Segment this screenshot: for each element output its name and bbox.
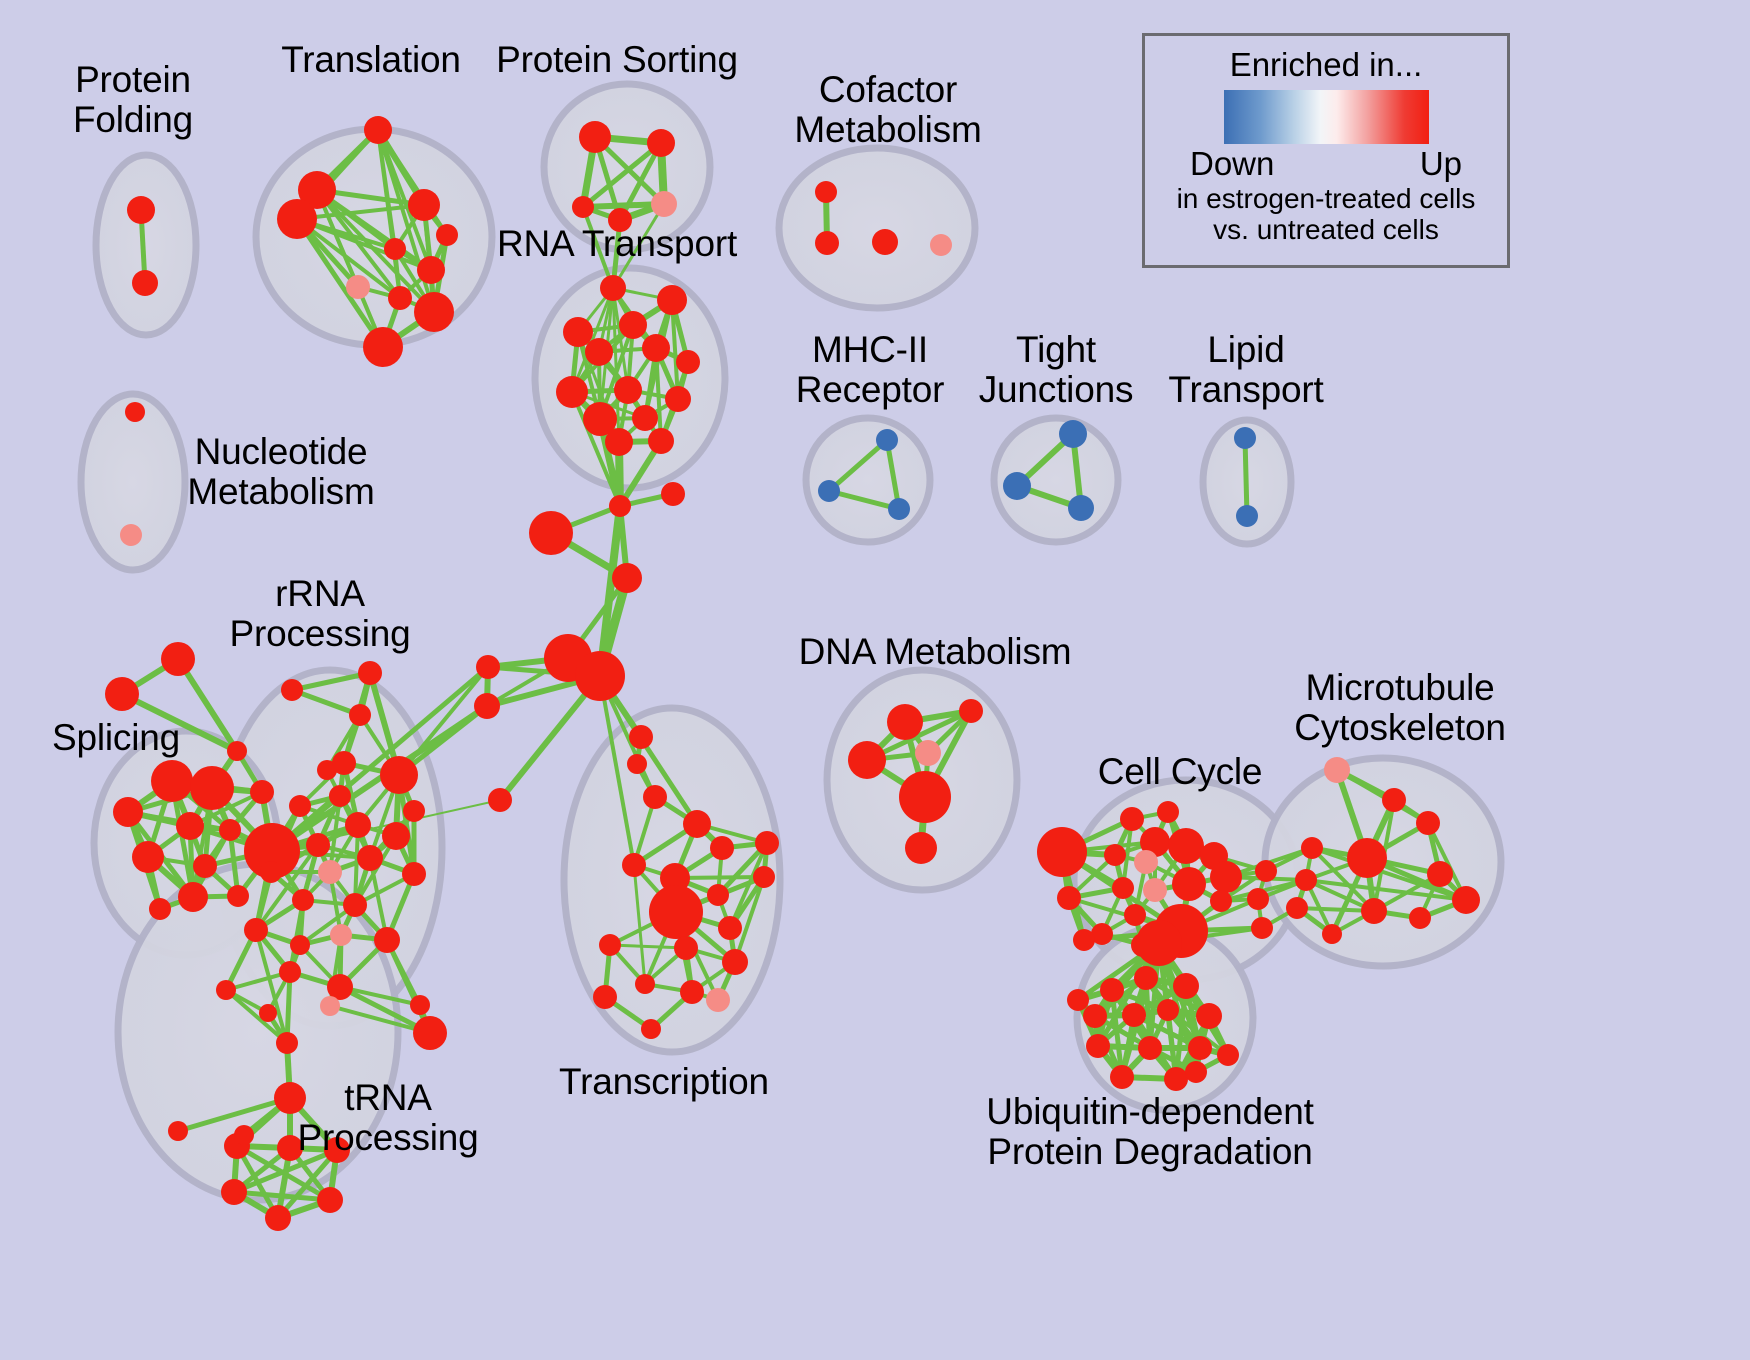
network-node[interactable]	[260, 861, 282, 883]
network-node[interactable]	[661, 482, 685, 506]
network-node[interactable]	[529, 511, 573, 555]
network-node[interactable]	[930, 234, 952, 256]
network-node[interactable]	[612, 563, 642, 593]
network-node[interactable]	[683, 810, 711, 838]
network-edge	[1245, 438, 1247, 516]
network-node[interactable]	[276, 1032, 298, 1054]
network-node[interactable]	[649, 885, 703, 939]
network-node[interactable]	[1210, 890, 1232, 912]
network-node[interactable]	[1361, 898, 1387, 924]
network-node[interactable]	[125, 402, 145, 422]
network-node[interactable]	[1086, 1034, 1110, 1058]
network-node[interactable]	[318, 860, 342, 884]
network-node[interactable]	[1138, 1036, 1162, 1060]
cluster-label-protein-sorting: Protein Sorting	[496, 40, 738, 80]
network-node[interactable]	[349, 704, 371, 726]
network-node[interactable]	[1301, 837, 1323, 859]
network-node[interactable]	[329, 785, 351, 807]
network-node[interactable]	[647, 129, 675, 157]
network-node[interactable]	[1196, 1003, 1222, 1029]
network-node[interactable]	[1188, 1036, 1212, 1060]
network-node[interactable]	[290, 935, 310, 955]
network-node[interactable]	[1210, 861, 1242, 893]
network-node[interactable]	[1059, 420, 1087, 448]
network-node[interactable]	[403, 800, 425, 822]
network-node[interactable]	[600, 275, 626, 301]
network-node[interactable]	[572, 196, 594, 218]
network-node[interactable]	[259, 1004, 277, 1022]
network-node[interactable]	[221, 1179, 247, 1205]
network-node[interactable]	[815, 231, 839, 255]
network-node[interactable]	[227, 741, 247, 761]
network-node[interactable]	[380, 756, 418, 794]
network-node[interactable]	[718, 916, 742, 940]
network-node[interactable]	[193, 854, 217, 878]
network-node[interactable]	[887, 704, 923, 740]
cluster-label-microtubule: Microtubule Cytoskeleton	[1294, 668, 1506, 748]
network-node[interactable]	[642, 334, 670, 362]
enrichment-map-figure: Protein FoldingTranslationProtein Sortin…	[0, 0, 1750, 1360]
network-node[interactable]	[1295, 869, 1317, 891]
network-node[interactable]	[1173, 973, 1199, 999]
network-node[interactable]	[474, 693, 500, 719]
network-node[interactable]	[1247, 888, 1269, 910]
cluster-label-rrna-processing: rRNA Processing	[229, 574, 410, 654]
network-node[interactable]	[674, 936, 698, 960]
network-node[interactable]	[680, 980, 704, 1004]
network-node[interactable]	[848, 741, 886, 779]
network-node[interactable]	[818, 480, 840, 502]
network-node[interactable]	[332, 751, 356, 775]
network-node[interactable]	[1452, 886, 1480, 914]
cluster-label-cofactor-metabolism: Cofactor Metabolism	[794, 70, 981, 150]
network-node[interactable]	[1236, 505, 1258, 527]
network-node[interactable]	[888, 498, 910, 520]
network-node[interactable]	[665, 386, 691, 412]
network-node[interactable]	[364, 116, 392, 144]
network-node[interactable]	[1286, 897, 1308, 919]
legend-box: Enriched in... Down Up in estrogen-treat…	[1142, 33, 1510, 268]
network-node[interactable]	[710, 836, 734, 860]
protein-folding-hull	[96, 155, 196, 335]
network-node[interactable]	[614, 376, 642, 404]
network-node[interactable]	[706, 988, 730, 1012]
network-node[interactable]	[1067, 989, 1089, 1011]
network-node[interactable]	[358, 661, 382, 685]
network-node[interactable]	[815, 181, 837, 203]
network-node[interactable]	[707, 884, 729, 906]
network-node[interactable]	[629, 725, 653, 749]
network-node[interactable]	[330, 924, 352, 946]
network-node[interactable]	[436, 224, 458, 246]
network-node[interactable]	[1003, 472, 1031, 500]
cluster-label-tight-junctions: Tight Junctions	[979, 330, 1134, 410]
network-node[interactable]	[648, 428, 674, 454]
network-node[interactable]	[132, 841, 164, 873]
cluster-label-translation: Translation	[281, 40, 460, 80]
network-node[interactable]	[281, 679, 303, 701]
network-node[interactable]	[488, 788, 512, 812]
network-node[interactable]	[905, 832, 937, 864]
network-node[interactable]	[1157, 801, 1179, 823]
cluster-label-lipid-transport: Lipid Transport	[1168, 330, 1323, 410]
network-node[interactable]	[410, 995, 430, 1015]
network-node[interactable]	[1037, 827, 1087, 877]
network-node[interactable]	[609, 495, 631, 517]
cluster-label-dna-metabolism: DNA Metabolism	[799, 632, 1072, 672]
network-node[interactable]	[657, 285, 687, 315]
network-node[interactable]	[676, 350, 700, 374]
network-node[interactable]	[234, 1125, 254, 1145]
network-node[interactable]	[1164, 1067, 1188, 1091]
network-node[interactable]	[599, 934, 621, 956]
network-node[interactable]	[915, 740, 941, 766]
network-node[interactable]	[1322, 924, 1342, 944]
network-node[interactable]	[216, 980, 236, 1000]
network-node[interactable]	[619, 311, 647, 339]
network-node[interactable]	[161, 642, 195, 676]
cluster-label-transcription: Transcription	[559, 1062, 769, 1102]
network-node[interactable]	[1100, 978, 1124, 1002]
network-node[interactable]	[1157, 999, 1179, 1021]
network-node[interactable]	[1134, 850, 1158, 874]
legend-endpoint-labels: Down Up	[1190, 145, 1462, 183]
network-node[interactable]	[190, 766, 234, 810]
network-node[interactable]	[346, 275, 370, 299]
network-node[interactable]	[320, 996, 340, 1016]
network-node[interactable]	[408, 189, 440, 221]
network-node[interactable]	[959, 699, 983, 723]
network-node[interactable]	[1255, 860, 1277, 882]
network-node[interactable]	[1427, 861, 1453, 887]
cluster-label-rna-transport: RNA Transport	[497, 224, 737, 264]
network-node[interactable]	[265, 1205, 291, 1231]
network-node[interactable]	[1124, 904, 1146, 926]
network-node[interactable]	[593, 985, 617, 1009]
network-node[interactable]	[168, 1121, 188, 1141]
cluster-label-protein-folding: Protein Folding	[73, 60, 193, 140]
network-node[interactable]	[227, 885, 249, 907]
network-node[interactable]	[1409, 907, 1431, 929]
network-node[interactable]	[579, 121, 611, 153]
network-node[interactable]	[317, 1187, 343, 1213]
network-node[interactable]	[244, 918, 268, 942]
network-node[interactable]	[575, 651, 625, 701]
network-node[interactable]	[872, 229, 898, 255]
network-node[interactable]	[127, 196, 155, 224]
network-node[interactable]	[1382, 788, 1406, 812]
cluster-label-splicing: Splicing	[52, 718, 180, 758]
network-node[interactable]	[357, 845, 383, 871]
network-node[interactable]	[585, 338, 613, 366]
network-node[interactable]	[651, 191, 677, 217]
network-node[interactable]	[345, 812, 371, 838]
cluster-label-nucleotide-metabolism: Nucleotide Metabolism	[187, 432, 374, 512]
network-node[interactable]	[250, 780, 274, 804]
network-node[interactable]	[556, 376, 588, 408]
network-node[interactable]	[292, 889, 314, 911]
network-node[interactable]	[417, 256, 445, 284]
network-node[interactable]	[635, 974, 655, 994]
network-node[interactable]	[1143, 878, 1167, 902]
network-node[interactable]	[605, 428, 633, 456]
cluster-label-mhc-ii-receptor: MHC-II Receptor	[796, 330, 945, 410]
network-node[interactable]	[1073, 929, 1095, 951]
network-node[interactable]	[132, 270, 158, 296]
cluster-label-ubiquitin-degradation: Ubiquitin-dependent Protein Degradation	[986, 1092, 1313, 1172]
network-node[interactable]	[277, 199, 317, 239]
network-node[interactable]	[1234, 427, 1256, 449]
network-node[interactable]	[1324, 757, 1350, 783]
network-node[interactable]	[343, 893, 367, 917]
network-node[interactable]	[1104, 844, 1126, 866]
network-node[interactable]	[151, 760, 193, 802]
network-node[interactable]	[363, 327, 403, 367]
network-node[interactable]	[622, 853, 646, 877]
cluster-label-cell-cycle: Cell Cycle	[1098, 752, 1263, 792]
network-node[interactable]	[563, 317, 593, 347]
network-node[interactable]	[476, 655, 500, 679]
legend-low-label: Down	[1190, 145, 1274, 183]
network-node[interactable]	[384, 238, 406, 260]
legend-caption-line-2: vs. untreated cells	[1213, 214, 1439, 245]
network-node[interactable]	[1217, 1044, 1239, 1066]
network-node[interactable]	[1172, 867, 1206, 901]
network-node[interactable]	[388, 286, 412, 310]
network-node[interactable]	[374, 927, 400, 953]
network-node[interactable]	[1168, 828, 1204, 864]
network-node[interactable]	[414, 292, 454, 332]
network-node[interactable]	[1068, 495, 1094, 521]
network-node[interactable]	[113, 797, 143, 827]
network-node[interactable]	[753, 866, 775, 888]
network-node[interactable]	[643, 785, 667, 809]
network-node[interactable]	[402, 862, 426, 886]
network-node[interactable]	[176, 812, 204, 840]
network-node[interactable]	[1134, 966, 1158, 990]
network-node[interactable]	[306, 833, 330, 857]
network-node[interactable]	[1110, 1065, 1134, 1089]
network-node[interactable]	[105, 677, 139, 711]
network-node[interactable]	[632, 405, 658, 431]
network-node[interactable]	[1120, 807, 1144, 831]
network-node[interactable]	[413, 1016, 447, 1050]
network-node[interactable]	[120, 524, 142, 546]
network-node[interactable]	[1122, 1003, 1146, 1027]
network-node[interactable]	[279, 961, 301, 983]
legend-color-gradient-bar	[1224, 90, 1429, 144]
legend-title: Enriched in...	[1230, 46, 1423, 84]
network-node[interactable]	[178, 882, 208, 912]
network-node[interactable]	[149, 898, 171, 920]
network-node[interactable]	[1136, 920, 1182, 966]
network-node[interactable]	[1083, 1004, 1107, 1028]
network-node[interactable]	[755, 831, 779, 855]
network-node[interactable]	[1347, 838, 1387, 878]
network-node[interactable]	[641, 1019, 661, 1039]
network-node[interactable]	[289, 795, 311, 817]
network-node[interactable]	[627, 754, 647, 774]
network-node[interactable]	[1185, 1061, 1207, 1083]
cofactor-hull	[779, 148, 975, 308]
network-node[interactable]	[219, 819, 241, 841]
network-node[interactable]	[382, 822, 410, 850]
network-node[interactable]	[1057, 886, 1081, 910]
network-node[interactable]	[876, 429, 898, 451]
network-node[interactable]	[1251, 917, 1273, 939]
legend-high-label: Up	[1420, 145, 1462, 183]
network-node[interactable]	[1112, 877, 1134, 899]
network-node[interactable]	[899, 771, 951, 823]
network-node[interactable]	[722, 949, 748, 975]
network-node[interactable]	[1416, 811, 1440, 835]
legend-caption-line-1: in estrogen-treated cells	[1177, 183, 1476, 214]
mhc-ii-hull	[806, 418, 930, 542]
cluster-label-trna-processing: tRNA Processing	[297, 1078, 478, 1158]
